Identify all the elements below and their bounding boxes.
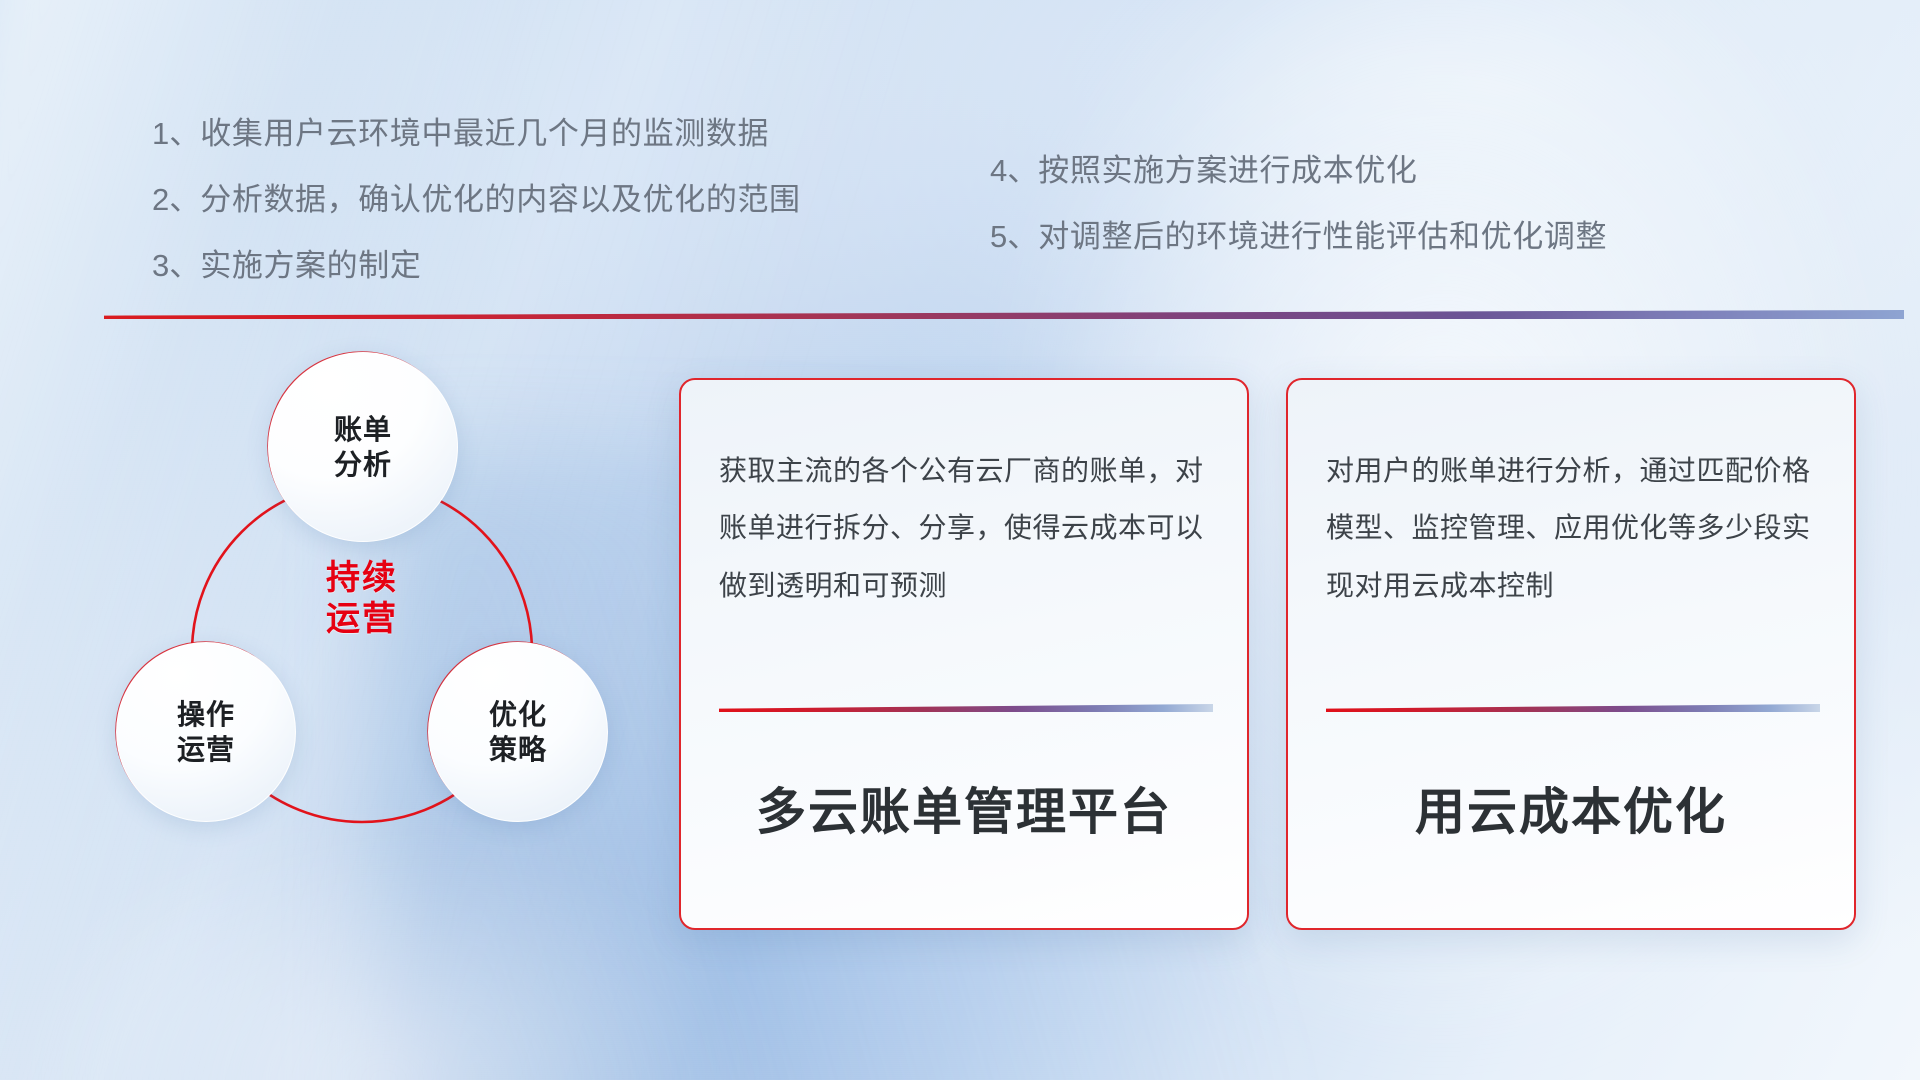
venn-center-label: 持续 运营 (282, 558, 442, 641)
slide-canvas: 1、收集用户云环境中最近几个月的监测数据 2、分析数据，确认优化的内容以及优化的… (0, 0, 1920, 1080)
list-item: 1、收集用户云环境中最近几个月的监测数据 (152, 118, 801, 149)
venn-node-operation[interactable]: 操作运营 (116, 642, 296, 822)
card-title: 多云账单管理平台 (681, 772, 1247, 844)
list-item-number: 1、 (152, 116, 200, 151)
list-item-label: 按照实施方案进行成本优化 (1038, 153, 1417, 188)
list-item: 2、分析数据，确认优化的内容以及优化的范围 (152, 184, 801, 215)
card-title: 用云成本优化 (1288, 772, 1854, 844)
list-item: 4、按照实施方案进行成本优化 (990, 155, 1607, 186)
list-item: 3、实施方案的制定 (152, 250, 801, 281)
venn-node-label: 操作运营 (177, 697, 235, 768)
venn-node-optimization-strategy[interactable]: 优化策略 (428, 642, 608, 822)
list-item-label: 收集用户云环境中最近几个月的监测数据 (200, 116, 769, 151)
list-item-number: 3、 (152, 248, 200, 283)
venn-center-label-line1: 持续 (282, 558, 442, 599)
list-item-label: 实施方案的制定 (200, 248, 421, 283)
list-item-number: 2、 (152, 182, 200, 217)
card-body-text: 获取主流的各个公有云厂商的账单，对账单进行拆分、分享，使得云成本可以做到透明和可… (719, 442, 1213, 614)
list-item-number: 4、 (990, 153, 1038, 188)
list-item-label: 分析数据，确认优化的内容以及优化的范围 (200, 182, 800, 217)
list-item-label: 对调整后的环境进行性能评估和优化调整 (1038, 219, 1607, 254)
list-item: 5、对调整后的环境进行性能评估和优化调整 (990, 221, 1607, 252)
feature-card-cost-optimization[interactable]: 对用户的账单进行分析，通过匹配价格模型、监控管理、应用优化等多少段实现对用云成本… (1286, 378, 1856, 930)
card-divider (1326, 704, 1820, 712)
list-item-number: 5、 (990, 219, 1038, 254)
card-body-text: 对用户的账单进行分析，通过匹配价格模型、监控管理、应用优化等多少段实现对用云成本… (1326, 442, 1820, 614)
feature-card-multicloud-billing[interactable]: 获取主流的各个公有云厂商的账单，对账单进行拆分、分享，使得云成本可以做到透明和可… (679, 378, 1249, 930)
venn-node-label: 账单分析 (334, 412, 392, 483)
steps-column-right: 4、按照实施方案进行成本优化 5、对调整后的环境进行性能评估和优化调整 (990, 155, 1607, 287)
card-divider (719, 704, 1213, 712)
venn-center-label-line2: 运营 (282, 599, 442, 640)
venn-diagram: 账单分析 操作运营 优化策略 持续 运营 (96, 352, 656, 952)
venn-node-billing-analysis[interactable]: 账单分析 (268, 352, 458, 542)
venn-node-label: 优化策略 (489, 697, 547, 768)
steps-column-left: 1、收集用户云环境中最近几个月的监测数据 2、分析数据，确认优化的内容以及优化的… (152, 118, 801, 316)
